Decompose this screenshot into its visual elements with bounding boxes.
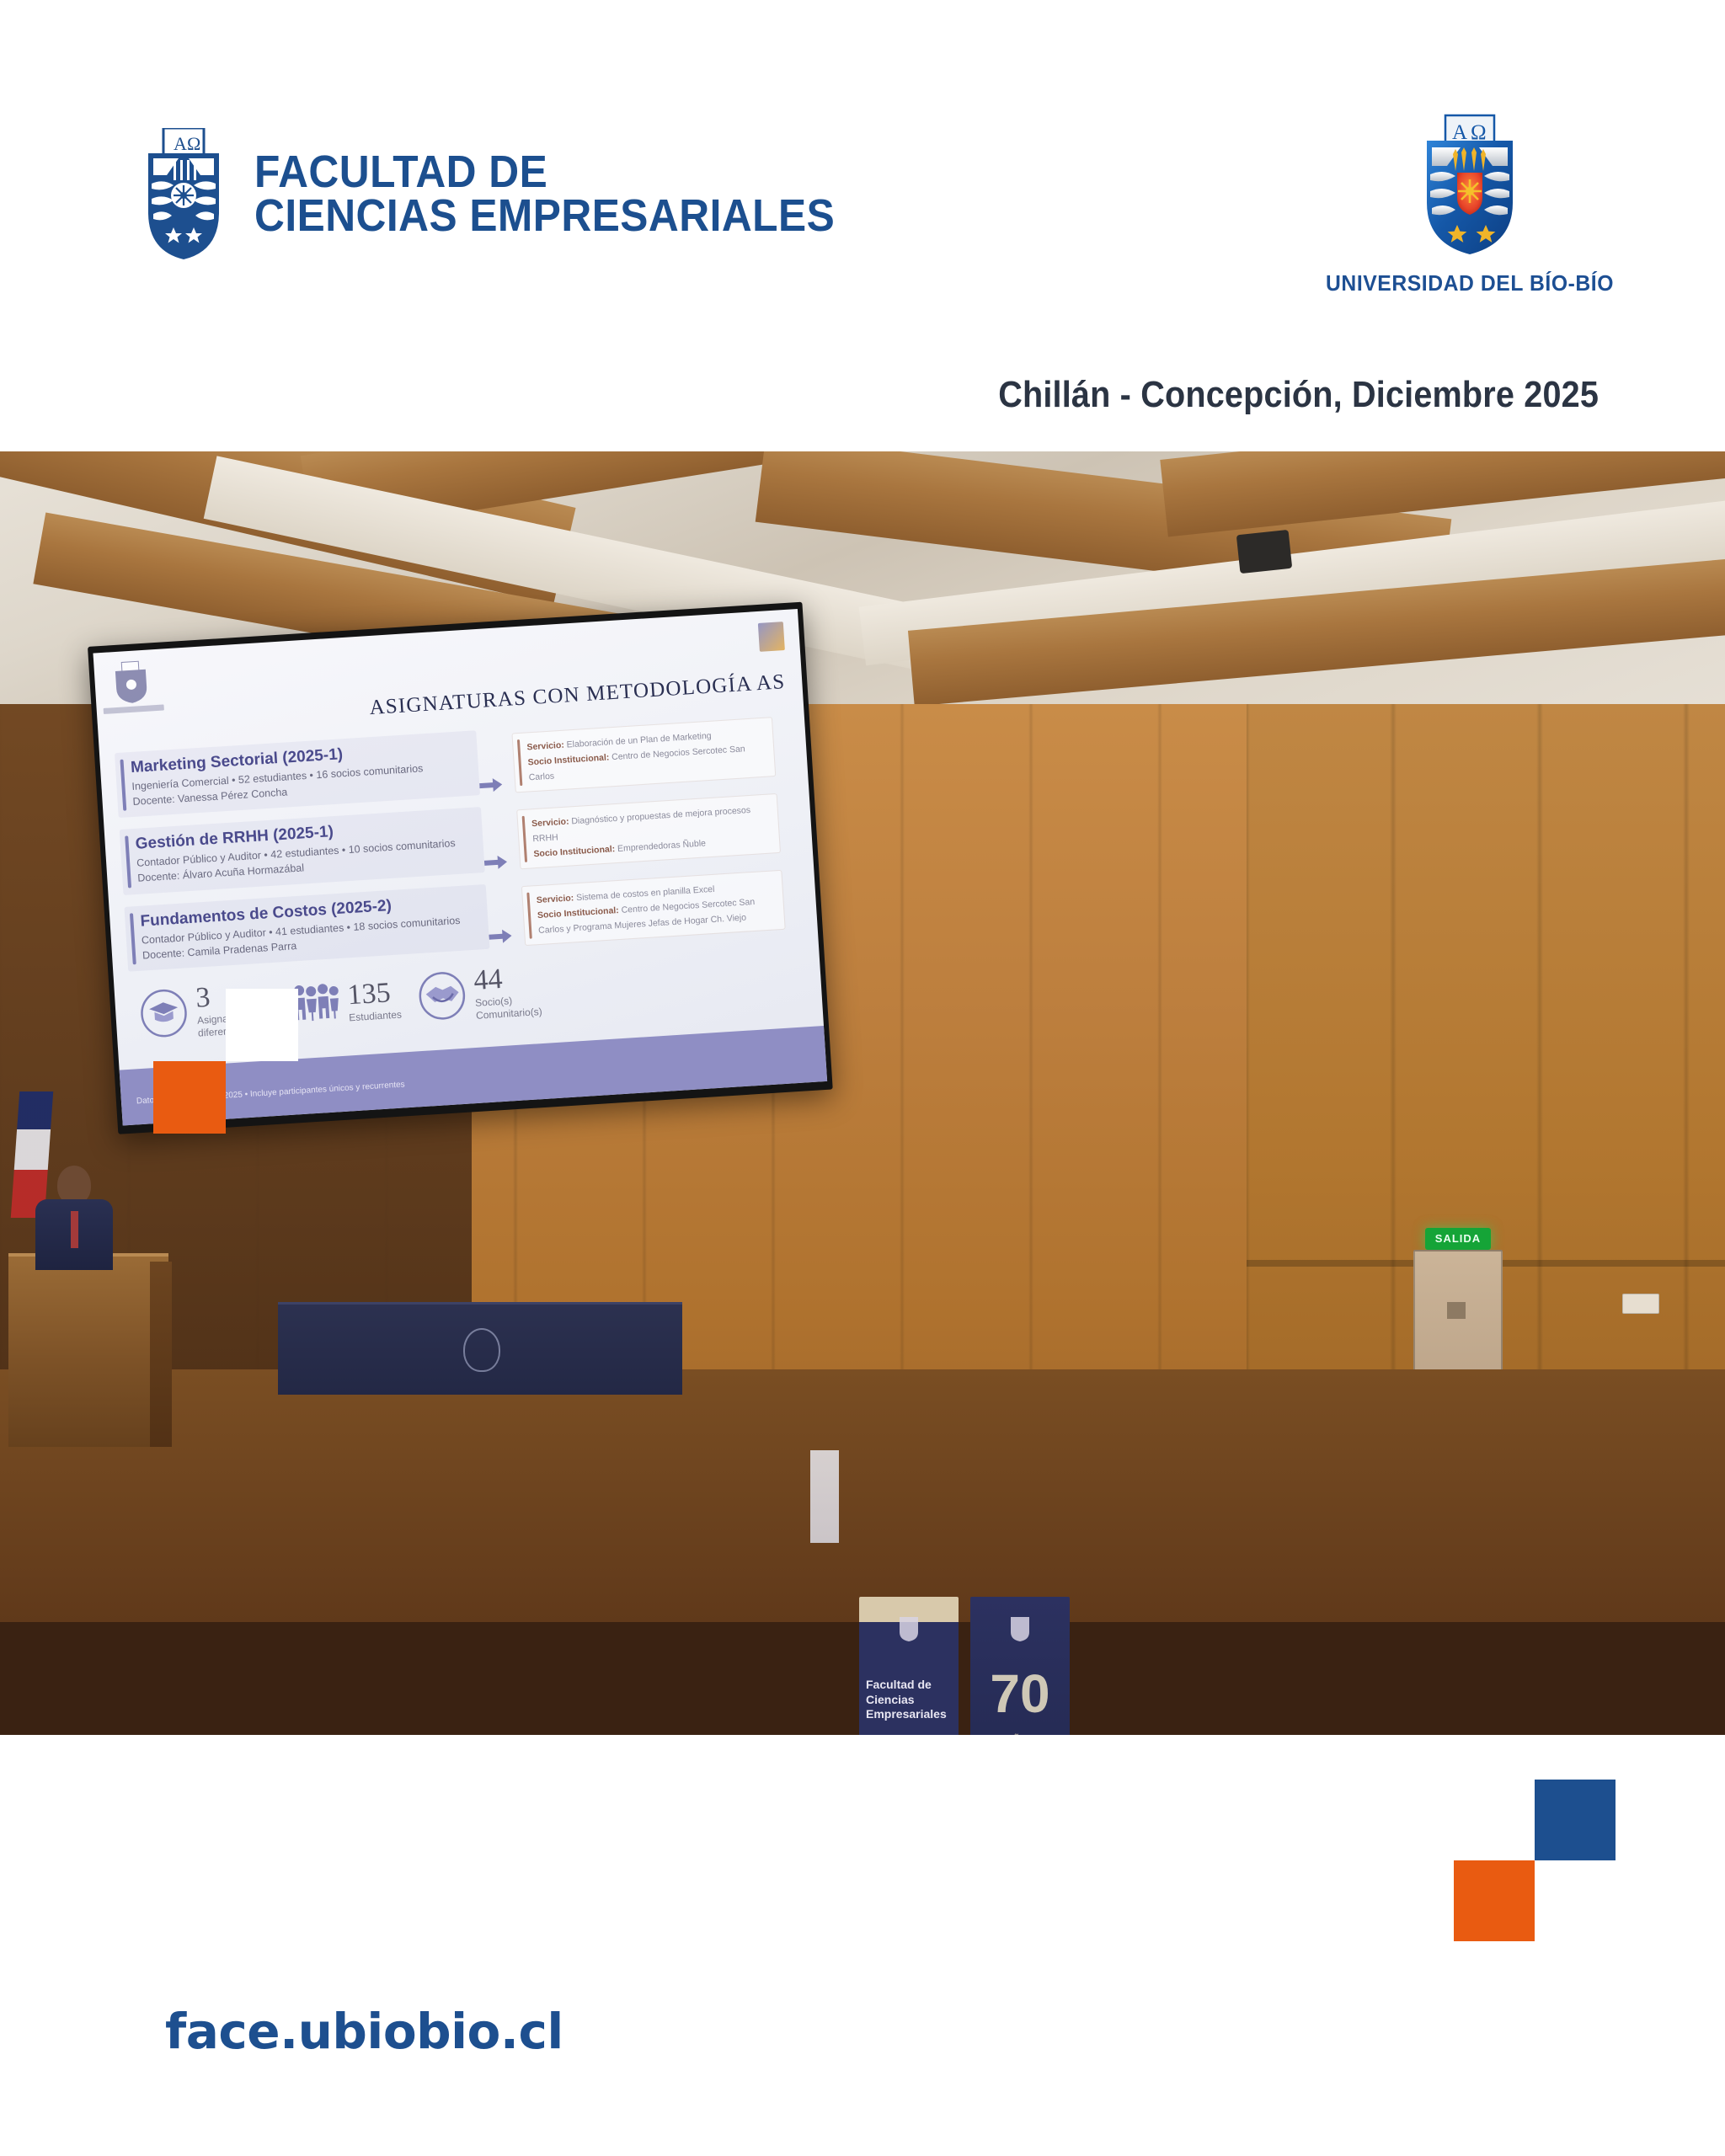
decor-square-orange — [153, 1061, 226, 1134]
service-label: Servicio: — [526, 740, 564, 753]
page-footer — [0, 1735, 1725, 2156]
decor-square-white — [226, 989, 298, 1061]
exit-sign: SALIDA — [1425, 1228, 1491, 1250]
decor-square-orange — [1454, 1860, 1535, 1941]
stage-floor — [0, 1369, 1725, 1622]
decor-square-blue — [1535, 1780, 1616, 1860]
svg-text:A: A — [1452, 121, 1467, 144]
page-header: A Ω — [0, 0, 1725, 451]
course-card: Gestión de RRHH (2025-1) Contador Públic… — [120, 807, 485, 894]
podium — [8, 1253, 168, 1447]
service-label: Servicio: — [531, 817, 569, 830]
slide-course-list: Marketing Sectorial (2025-1) Ingeniería … — [115, 730, 490, 983]
svg-text:Ω: Ω — [1471, 121, 1487, 144]
arrow-right-icon — [483, 853, 508, 872]
slide-service-list: Servicio: Elaboración de un Plan de Mark… — [511, 717, 787, 963]
slide-title: ASIGNATURAS CON METODOLOGÍA AS — [247, 670, 786, 728]
wall-outlet — [1622, 1294, 1659, 1314]
pullup-banner-anniversary: 70 años — [970, 1597, 1070, 1735]
handshake-icon — [416, 970, 468, 1022]
pullup-banner-faculty: Facultad de Ciencias Empresariales — [859, 1597, 959, 1735]
service-card: Servicio: Elaboración de un Plan de Mark… — [511, 717, 776, 792]
ubb-shield-color-icon: A Ω — [1418, 114, 1521, 257]
faculty-line-2: CIENCIAS EMPRESARIALES — [254, 195, 835, 238]
website-link[interactable]: face.ubiobio.cl — [165, 2003, 563, 2060]
service-card: Servicio: Diagnóstico y propuestas de me… — [516, 793, 781, 869]
stat-value: 135 — [346, 977, 391, 1011]
banner-crest-icon — [1009, 1615, 1031, 1642]
head-table — [278, 1302, 682, 1395]
speaker-person — [35, 1166, 113, 1267]
faculty-wordmark: FACULTAD DE CIENCIAS EMPRESARIALES — [254, 151, 885, 238]
podium-side — [150, 1262, 172, 1447]
banner-faculty-text: Facultad de Ciencias Empresariales — [866, 1678, 952, 1722]
partner-text: Emprendedoras Ñuble — [615, 838, 707, 854]
stat-item: 44 Socio(s) Comunitario(s) — [415, 960, 553, 1026]
banner-anniversary-number: 70 — [970, 1662, 1070, 1725]
course-card: Marketing Sectorial (2025-1) Ingeniería … — [115, 730, 480, 818]
stat-value: 44 — [473, 963, 503, 996]
partner-label: Socio Institucional: — [527, 752, 609, 767]
university-logo: A Ω — [1365, 114, 1575, 296]
banner-crest-icon — [898, 1615, 920, 1642]
service-label: Servicio: — [537, 893, 574, 905]
arrow-right-icon — [489, 927, 513, 946]
graduation-cap-icon — [138, 987, 190, 1039]
ceiling-speaker — [1236, 530, 1292, 574]
arrow-right-icon — [479, 776, 504, 794]
faculty-logo: A Ω — [142, 128, 885, 261]
exit-sign-label: SALIDA — [1425, 1228, 1491, 1250]
svg-text:A: A — [174, 133, 187, 154]
svg-text:Ω: Ω — [187, 133, 200, 154]
speaker-tie — [71, 1211, 78, 1248]
dateline: Chillán - Concepción, Diciembre 2025 — [998, 374, 1599, 416]
slide-crest-caption — [104, 704, 164, 714]
stat-label: Socio(s) Comunitario(s) — [475, 992, 554, 1022]
slide-content: ASIGNATURAS CON METODOLOGÍA AS Marketing… — [93, 609, 827, 1126]
stat-label: Estudiantes — [349, 1008, 403, 1024]
stat-value: 3 — [195, 982, 211, 1014]
partner-label: Socio Institucional: — [533, 844, 615, 859]
institutional-flag — [810, 1450, 839, 1543]
university-name: UNIVERSIDAD DEL BÍO-BÍO — [1326, 270, 1614, 296]
slide-crest-icon — [112, 660, 150, 707]
slide-partner-logo — [758, 622, 785, 652]
partner-label: Socio Institucional: — [537, 905, 619, 921]
faculty-line-1: FACULTAD DE — [254, 151, 835, 195]
auditorium-photo: SALIDA ASIGNATURAS CON METODOLOGÍA AS Ma… — [0, 451, 1725, 1735]
stat-item: 135 Estudiantes — [289, 974, 402, 1030]
projection-screen: ASIGNATURAS CON METODOLOGÍA AS Marketing… — [88, 602, 833, 1134]
ubb-shield-flat-icon: A Ω — [142, 128, 226, 261]
